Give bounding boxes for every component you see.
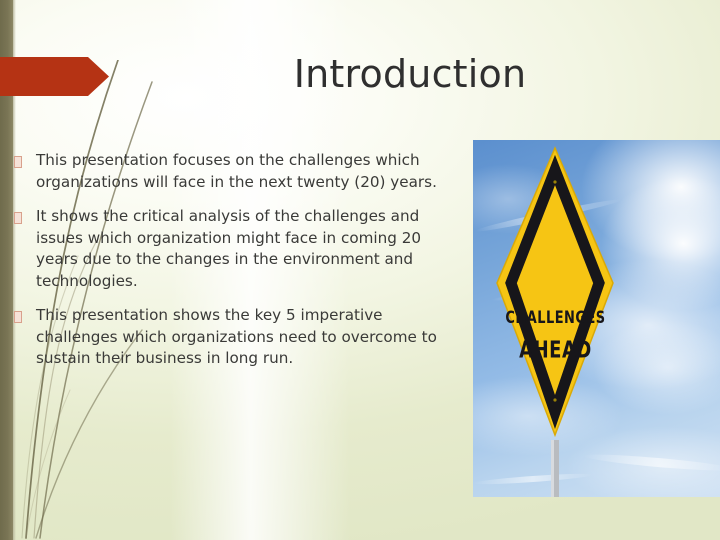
slide-title: Introduction: [120, 51, 700, 97]
sign-text-line2: AHEAD: [473, 337, 679, 364]
box-bullet-icon: [14, 311, 22, 323]
bullet-text: This presentation focuses on the challen…: [36, 150, 464, 193]
bullet-item: This presentation shows the key 5 impera…: [14, 305, 464, 370]
sign-text-line1: CHALLENGES: [473, 308, 674, 328]
bullet-text: It shows the critical analysis of the ch…: [36, 206, 464, 292]
box-bullet-icon: [14, 156, 22, 168]
box-bullet-icon: [14, 212, 22, 224]
bullet-text: This presentation shows the key 5 impera…: [36, 305, 464, 370]
title-arrow-banner: [0, 57, 109, 96]
presentation-slide: Introduction This presentation focuses o…: [0, 0, 720, 540]
bullet-item: This presentation focuses on the challen…: [14, 150, 464, 193]
bullet-list: This presentation focuses on the challen…: [14, 150, 464, 383]
bullet-item: It shows the critical analysis of the ch…: [14, 206, 464, 292]
challenges-ahead-image: CHALLENGES AHEAD: [473, 140, 720, 497]
